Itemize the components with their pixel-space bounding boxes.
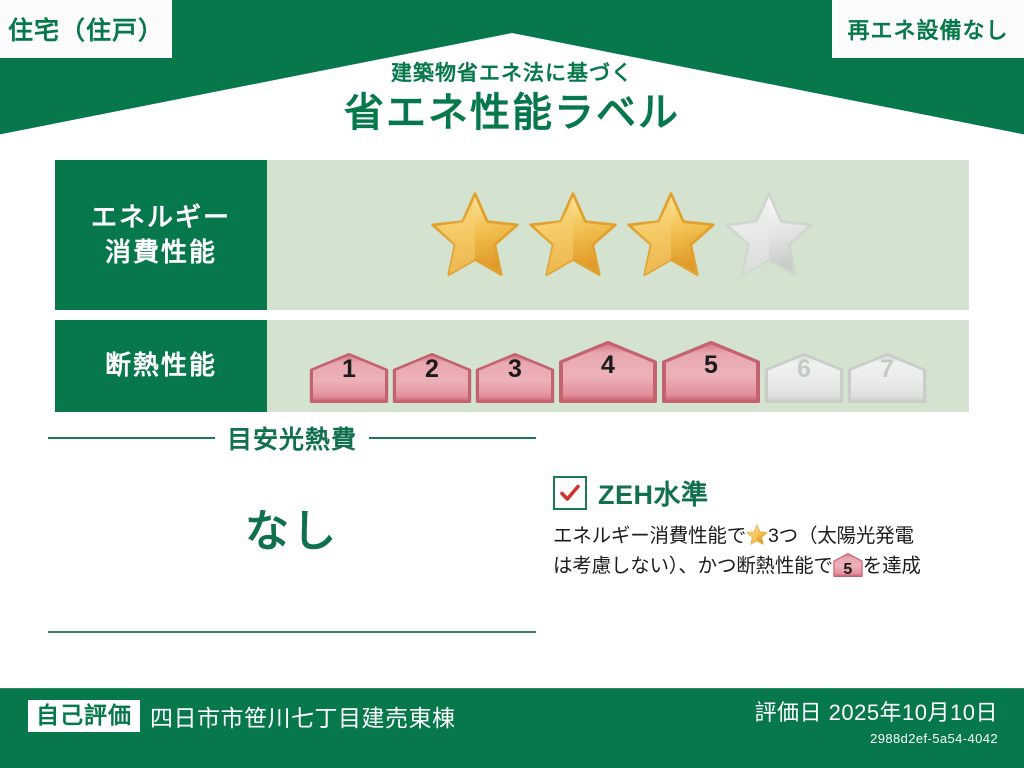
page-title: 省エネ性能ラベル: [0, 88, 1024, 138]
insulation-grade-1: 1: [309, 353, 389, 403]
zeh-description: エネルギー消費性能で3つ（太陽光発電 は考慮しない）、かつ断熱性能で5を達成: [553, 522, 978, 581]
label-footer: 自己評価 四日市市笹川七丁目建売東棟 評価日 2025年10月10日 2988d…: [0, 683, 1024, 768]
insulation-grade-2: 2: [392, 353, 472, 403]
zeh-desc-part-3: を達成: [863, 555, 921, 577]
insulation-label: 断熱性能: [105, 348, 217, 383]
inline-house-icon: 5: [833, 553, 863, 577]
utility-cost-value: なし: [48, 495, 536, 559]
insulation-performance-value: 1234567: [267, 320, 969, 412]
insulation-grade-scale: 1234567: [309, 341, 927, 403]
insulation-grade-4: 4: [558, 341, 658, 403]
star-filled-icon: [625, 189, 717, 281]
building-type-tag: 住宅（住戸）: [0, 0, 172, 58]
energy-performance-label-block: エネルギー 消費性能: [55, 160, 267, 310]
title-subtitle: 建築物省エネ法に基づく: [0, 62, 1024, 85]
star-filled-icon: [429, 189, 521, 281]
zeh-desc-part-2: は考慮しない）、かつ断熱性能で: [553, 555, 833, 577]
insulation-performance-row: 断熱性能 1234567: [55, 320, 969, 412]
utility-cost-heading-text: 目安光熱費: [227, 420, 357, 456]
heading-rule-left: [48, 437, 215, 439]
utility-cost-bottom-rule: [48, 631, 536, 633]
zeh-checkbox: [553, 476, 587, 510]
star-empty-icon: [723, 189, 815, 281]
insulation-grade-7: 7: [847, 353, 927, 403]
energy-performance-value: [267, 160, 969, 310]
energy-performance-label: 住宅（住戸） 再エネ設備なし 建築物省エネ法に基づく 省エネ性能ラベル エネルギ…: [0, 0, 1024, 768]
heading-rule-right: [369, 437, 536, 439]
label-title-block: 建築物省エネ法に基づく 省エネ性能ラベル: [0, 62, 1024, 138]
energy-performance-row: エネルギー 消費性能: [55, 160, 969, 310]
energy-label-line-2: 消費性能: [105, 235, 217, 270]
zeh-standard-panel: ZEH水準 エネルギー消費性能で3つ（太陽光発電 は考慮しない）、かつ断熱性能で…: [553, 473, 978, 581]
zeh-desc-star-count: 3つ（太陽光発電: [768, 525, 914, 547]
zeh-desc-part-1: エネルギー消費性能で: [553, 525, 746, 547]
utility-cost-heading: 目安光熱費: [48, 420, 536, 456]
insulation-grade-3: 3: [475, 353, 555, 403]
evaluation-date: 評価日 2025年10月10日: [755, 695, 999, 727]
zeh-title: ZEH水準: [598, 473, 709, 512]
insulation-performance-label-block: 断熱性能: [55, 320, 267, 412]
inline-star-icon: [746, 524, 768, 546]
zeh-title-row: ZEH水準: [553, 473, 978, 512]
energy-label-line-1: エネルギー: [91, 200, 231, 235]
footer-right: 評価日 2025年10月10日 2988d2ef-5a54-4042: [755, 695, 999, 746]
renewable-equipment-tag: 再エネ設備なし: [832, 0, 1024, 58]
star-rating: [429, 189, 815, 281]
self-evaluation-badge: 自己評価: [28, 700, 140, 732]
evaluation-id: 2988d2ef-5a54-4042: [755, 731, 999, 746]
insulation-grade-6: 6: [764, 353, 844, 403]
insulation-grade-5: 5: [661, 341, 761, 403]
star-filled-icon: [527, 189, 619, 281]
footer-left: 自己評価 四日市市笹川七丁目建売東棟: [28, 699, 456, 733]
property-name: 四日市市笹川七丁目建売東棟: [150, 699, 456, 733]
